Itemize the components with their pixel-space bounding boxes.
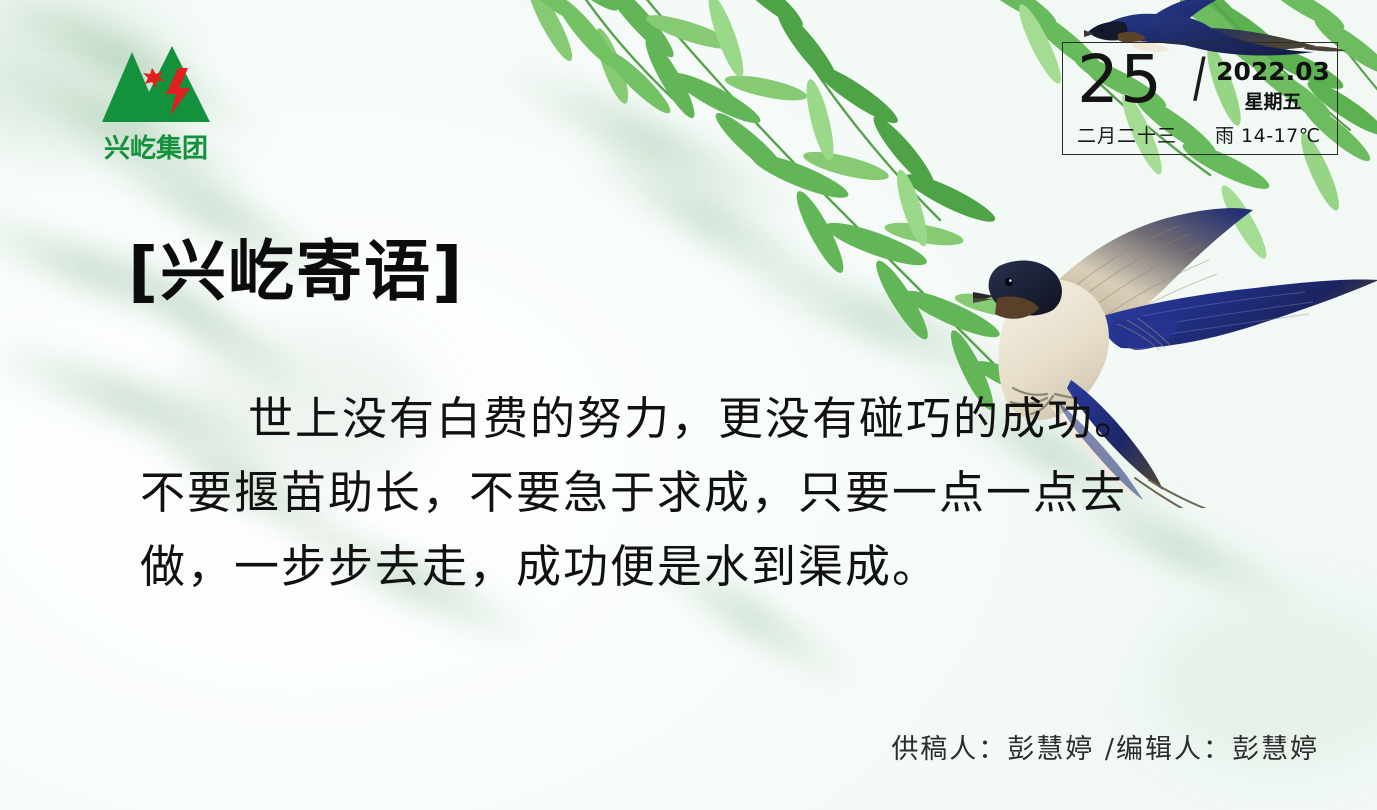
credit-line: 供稿人：彭慧婷 /编辑人：彭慧婷 — [891, 727, 1319, 766]
quote-body: 世上没有白费的努力，更没有碰巧的成功。 不要揠苗助长，不要急于求成，只要一点一点… — [140, 382, 1255, 604]
quote-line: 做，一步步去走，成功便是水到渠成。 — [140, 530, 1255, 604]
logo-text: 兴屹集团 — [100, 128, 212, 165]
poster-canvas: 兴屹集团 25 / 2022.03 星期五 二月二十三 雨 14-17℃ [兴屹… — [0, 0, 1377, 810]
date-day: 25 — [1077, 41, 1163, 118]
date-separator: / — [1193, 45, 1206, 114]
date-weekday: 星期五 — [1213, 87, 1333, 114]
quote-line: 世上没有白费的努力，更没有碰巧的成功。 — [140, 382, 1255, 456]
company-logo[interactable]: 兴屹集团 — [100, 44, 212, 159]
date-lunar: 二月二十三 — [1077, 121, 1177, 148]
date-weather: 雨 14-17℃ — [1215, 121, 1321, 148]
page-title: [兴屹寄语] — [128, 218, 464, 314]
quote-line: 不要揠苗助长，不要急于求成，只要一点一点去 — [140, 456, 1255, 530]
date-card-top: 25 / 2022.03 星期五 — [1063, 43, 1337, 111]
date-year-month: 2022.03 — [1213, 57, 1333, 86]
date-card: 25 / 2022.03 星期五 二月二十三 雨 14-17℃ — [1062, 42, 1338, 155]
logo-mountain-icon — [100, 44, 212, 130]
